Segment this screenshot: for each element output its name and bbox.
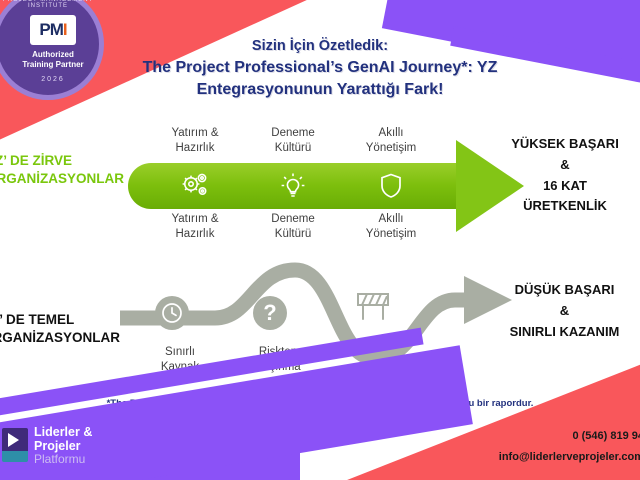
green-track-outcome: YÜKSEK BAŞARI & 16 KAT ÜRETKENLİK	[480, 134, 640, 217]
question-mark-glyph: ?	[263, 302, 276, 324]
gears-icon	[140, 171, 250, 204]
page-title: Sizin İçin Özetledik: The Project Profes…	[100, 36, 540, 102]
infographic-canvas: PROJECT MANAGEMENT INSTITUTE PMI Authori…	[0, 0, 640, 480]
brand-name: Liderler & Projeler Platformu	[34, 425, 92, 466]
title-line-1: Sizin İçin Özetledik:	[100, 36, 540, 57]
green-step-1-bottom-line-1: Yatırım &	[140, 212, 250, 227]
green-outcome-line-2: &	[480, 155, 640, 176]
green-step-1-top-line-1: Yatırım &	[140, 126, 250, 141]
pmi-logo-i-text: I	[63, 20, 67, 40]
green-step-3-bottom-label: Akıllı Yönetişim	[336, 212, 446, 242]
title-line-3: Entegrasyonunun Yarattığı Fark!	[100, 79, 540, 102]
clock-icon	[155, 296, 189, 330]
gray-outcome-line-3: SINIRLI KAZANIM	[477, 322, 640, 343]
contact-phone: 0 (546) 819 94	[499, 426, 640, 447]
gray-outcome-line-1: DÜŞÜK BAŞARI	[477, 280, 640, 301]
green-step-3-top-line-1: Akıllı	[336, 126, 446, 141]
question-mark-icon-circle: ?	[253, 296, 287, 330]
green-outcome-line-1: YÜKSEK BAŞARI	[480, 134, 640, 155]
play-triangle-icon	[8, 433, 19, 447]
green-step-3-top-label: Akıllı Yönetişim	[336, 126, 446, 156]
lightbulb-icon	[238, 171, 348, 206]
green-step-3-bottom-line-1: Akıllı	[336, 212, 446, 227]
badge-line-2: Training Partner	[22, 60, 83, 70]
badge-authorized-label: Authorized Training Partner	[22, 50, 83, 70]
green-step-2-bottom-line-2: Kültürü	[238, 227, 348, 242]
badge-ring-text: PROJECT MANAGEMENT INSTITUTE	[0, 0, 99, 9]
gray-track-outcome: DÜŞÜK BAŞARI & SINIRLI KAZANIM	[477, 280, 640, 342]
green-step-1-bottom-line-2: Hazırlık	[140, 227, 250, 242]
contact-info: 0 (546) 819 94 info@liderlerveprojeler.c…	[499, 426, 640, 468]
pmi-logo: PMI	[30, 15, 76, 45]
gray-step-1-line-1: Sınırlı	[125, 345, 235, 360]
green-outcome-line-3: 16 KAT	[480, 176, 640, 197]
brand-line-2: Projeler	[34, 439, 92, 453]
green-step-3-bottom-line-2: Yönetişim	[336, 227, 446, 242]
gray-outcome-line-2: &	[477, 301, 640, 322]
badge-line-1: Authorized	[22, 50, 83, 60]
green-step-1-top-line-2: Hazırlık	[140, 141, 250, 156]
green-step-2-top-line-1: Deneme	[238, 126, 348, 141]
green-step-3-top-line-2: Yönetişim	[336, 141, 446, 156]
green-step-2-top-line-2: Kültürü	[238, 141, 348, 156]
brand-logo: Liderler & Projeler Platformu	[2, 425, 92, 466]
clock-icon-circle	[155, 296, 189, 330]
brand-mark-teal-bar	[2, 451, 28, 462]
green-step-1-bottom-label: Yatırım & Hazırlık	[140, 212, 250, 242]
green-step-2-bottom-line-1: Deneme	[238, 212, 348, 227]
brand-line-1: Liderler &	[34, 425, 92, 439]
question-mark-icon: ?	[253, 296, 287, 330]
contact-email[interactable]: info@liderlerveprojeler.com	[499, 447, 640, 468]
pmi-logo-pm-text: PM	[39, 20, 63, 40]
badge-year: 2026	[41, 76, 65, 83]
green-step-2-bottom-label: Deneme Kültürü	[238, 212, 348, 242]
roadblock-icon	[352, 290, 394, 329]
green-track-left-label: YZ’ DE ZİRVE ORGANİZASYONLAR	[0, 152, 146, 188]
green-step-2-top-label: Deneme Kültürü	[238, 126, 348, 156]
brand-mark-icon	[2, 428, 28, 462]
title-line-2: The Project Professional’s GenAI Journey…	[100, 57, 540, 80]
green-left-label-line-1: YZ’ DE ZİRVE	[0, 152, 146, 170]
brand-mark-play-shape	[2, 428, 28, 451]
green-step-1-top-label: Yatırım & Hazırlık	[140, 126, 250, 156]
green-left-label-line-2: ORGANİZASYONLAR	[0, 170, 146, 188]
brand-line-3: Platformu	[34, 453, 92, 466]
shield-icon	[336, 171, 446, 206]
green-outcome-line-4: ÜRETKENLİK	[480, 196, 640, 217]
